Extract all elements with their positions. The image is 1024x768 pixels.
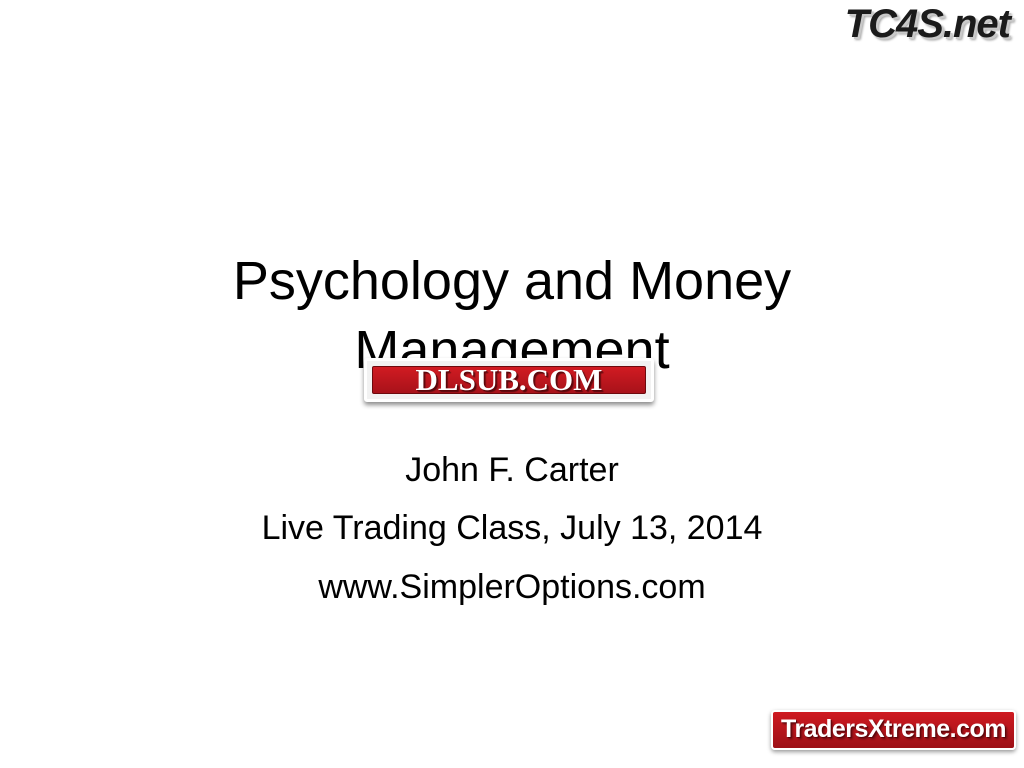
watermark-center-label: DLSUB.COM [364, 358, 654, 402]
slide-content: TC4S.net Psychology and Money Management… [0, 0, 1024, 768]
watermark-center: DLSUB.COM [364, 358, 654, 402]
slide-subtitle: John F. Carter Live Trading Class, July … [112, 441, 912, 616]
watermark-bottom-right: TradersXtreme.com [771, 710, 1016, 750]
subtitle-line-3: www.SimplerOptions.com [112, 558, 912, 616]
watermark-bottom-right-label: TradersXtreme.com [781, 715, 1006, 743]
subtitle-line-2: Live Trading Class, July 13, 2014 [112, 499, 912, 557]
slide-canvas: { "slide": { "title": "Psychology and Mo… [0, 0, 1024, 768]
subtitle-line-1: John F. Carter [112, 441, 912, 499]
watermark-top-right: TC4S.net [845, 2, 1010, 47]
